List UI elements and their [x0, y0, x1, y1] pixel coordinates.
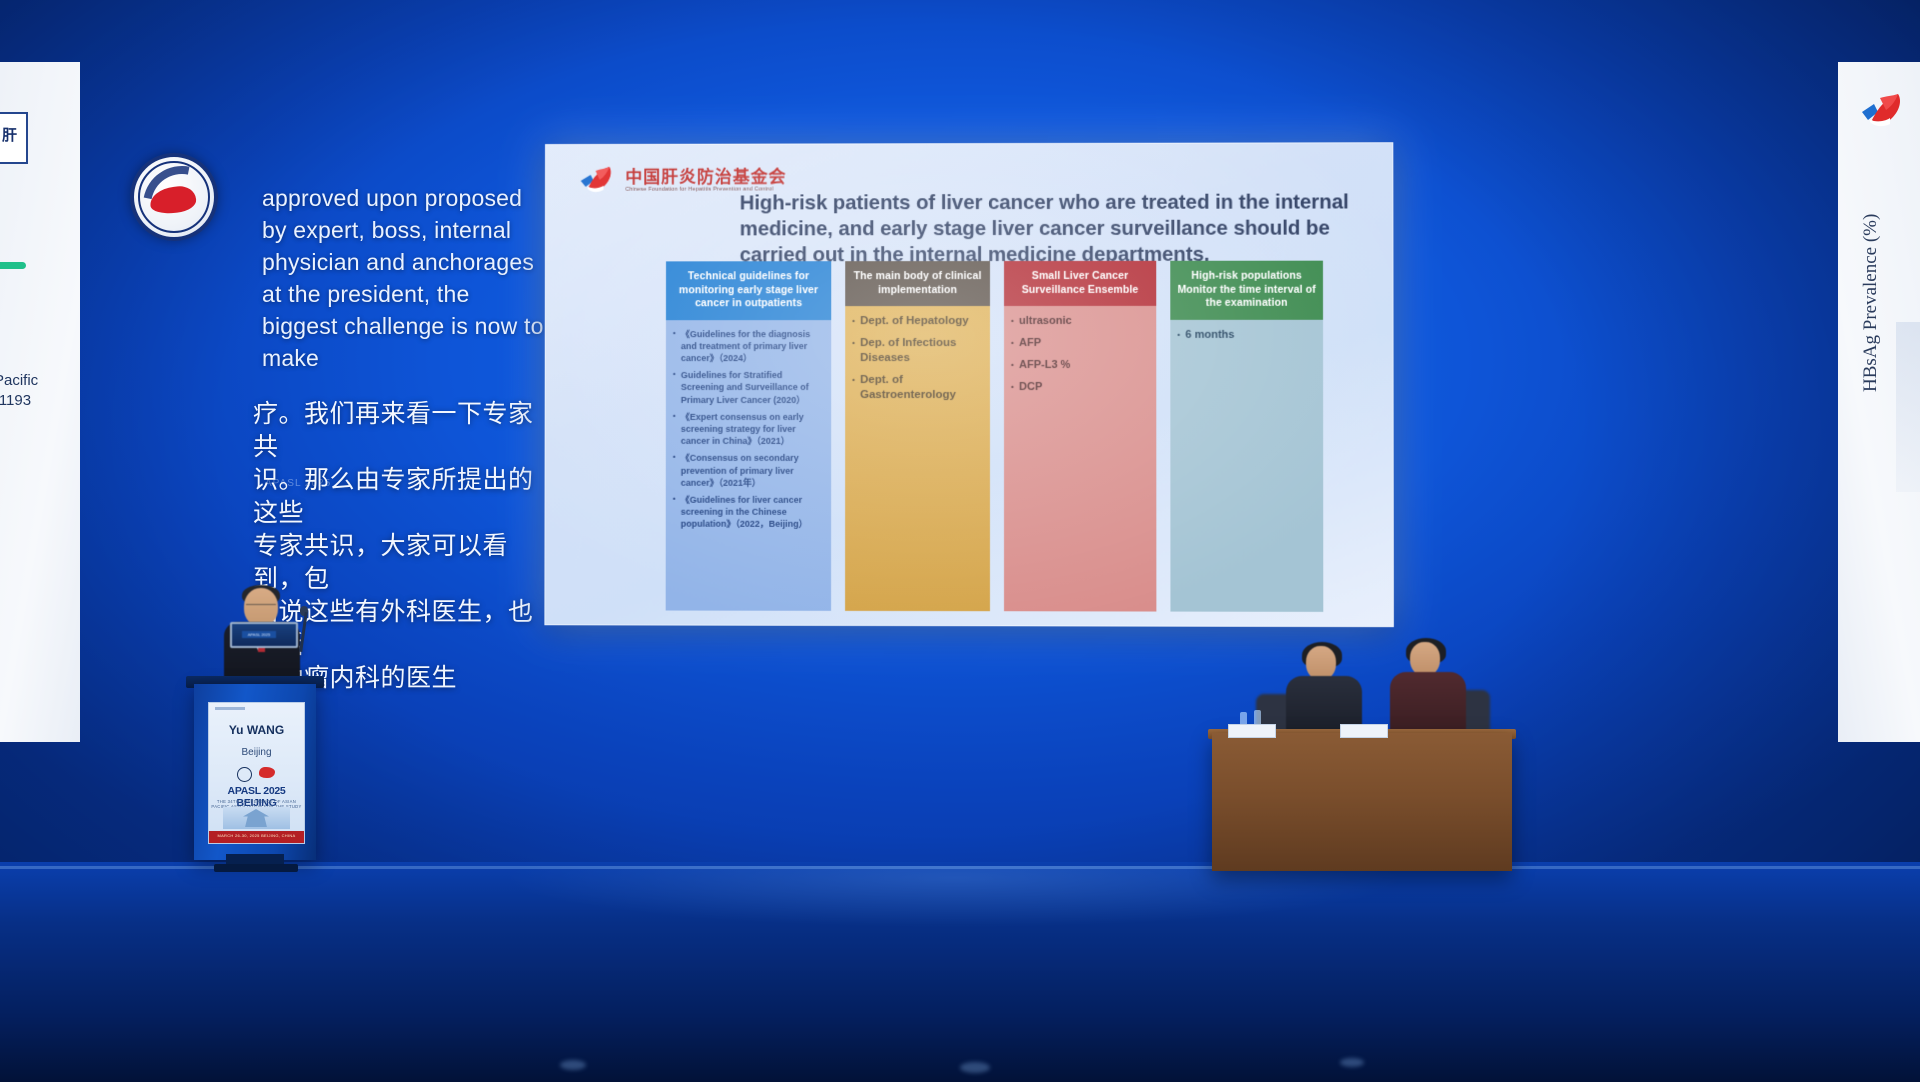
conference-stage-photo: 肝 Pacific D1193 HBsAg Prevalence (%) app… [0, 0, 1920, 1082]
stage-floor-sheen [330, 866, 1580, 986]
cfhpc-hand-logo-icon [578, 165, 622, 197]
floor-light-dot [560, 1060, 586, 1070]
right-side-screen: HBsAg Prevalence (%) [1838, 62, 1920, 742]
emblem-arc [130, 153, 218, 241]
panel-table [1212, 733, 1512, 871]
apasl-liver-emblem-icon [130, 153, 218, 241]
nameplate-rule [215, 707, 245, 710]
panel-nameplate [1228, 724, 1276, 738]
podium-laptop: APASL 2025 [222, 622, 294, 648]
podium-nameplate: Yu WANG Beijing APASL 2025 BEIJING THE 3… [208, 702, 305, 844]
column-header: Technical guidelines for monitoring earl… [666, 261, 831, 319]
right-screen-axis-label: HBsAg Prevalence (%) [1860, 92, 1882, 392]
column-surveillance-ensemble: Small Liver Cancer Surveillance Ensemble… [1004, 261, 1156, 612]
list-item: 《Guidelines for the diagnosis and treatm… [673, 328, 824, 365]
speaker-city: Beijing [209, 747, 304, 758]
list-item: AFP [1011, 336, 1149, 351]
english-live-caption: approved upon proposed by expert, boss, … [262, 182, 544, 374]
panelist-body [1390, 672, 1466, 734]
list-item: Dept. of Hepatology [852, 314, 983, 329]
list-item: Guidelines for Stratified Screening and … [673, 369, 824, 406]
floor-light-dot [960, 1062, 990, 1073]
list-item: AFP-L3 % [1011, 358, 1149, 373]
column-body: 《Guidelines for the diagnosis and treatm… [666, 320, 832, 611]
list-item: 《Guidelines for liver cancer screening i… [673, 494, 824, 531]
left-screen-text-line2: D1193 [0, 392, 31, 409]
laptop-badge-label: APASL 2025 [242, 631, 276, 638]
column-header: The main body of clinical implementation [845, 261, 990, 306]
speaker-glasses-icon [246, 604, 276, 612]
column-monitor-interval: High-risk populations Monitor the time i… [1170, 261, 1323, 612]
panel-nameplate [1340, 724, 1388, 738]
list-item: DCP [1011, 380, 1149, 395]
apasl-seal-icon [237, 767, 252, 782]
main-projection-screen: 中国肝炎防治基金会 Chinese Foundation for Hepatit… [544, 142, 1393, 627]
speaker-name: Yu WANG [209, 723, 304, 737]
list-item: Dept. of Gastroenterology [852, 373, 983, 403]
column-technical-guidelines: Technical guidelines for monitoring earl… [666, 261, 832, 611]
chinese-caption-line: 识。那么由专家所提出的这些 [253, 464, 543, 530]
chinese-caption-line: 专家共识，大家可以看到，包 [253, 530, 543, 596]
column-body: 6 months [1170, 319, 1323, 612]
panelist-figure [1382, 642, 1478, 734]
right-screen-faint-chart [1896, 322, 1920, 492]
column-header: Small Liver Cancer Surveillance Ensemble [1004, 261, 1156, 306]
floor-light-dot [1340, 1058, 1364, 1067]
list-item: 《Expert consensus on early screening str… [673, 411, 824, 448]
nameplate-banner-text: MARCH 26-30, 2025 BEIJING, CHINA [209, 833, 304, 838]
list-item: Dep. of Infectious Diseases [852, 336, 983, 366]
left-screen-green-bar [0, 262, 26, 269]
column-body: ultrasonic AFP AFP-L3 % DCP [1004, 306, 1156, 612]
column-main-body-clinical: The main body of clinical implementation… [845, 261, 990, 611]
left-screen-cjk-glyph: 肝 [2, 124, 16, 145]
speaker-podium: Yu WANG Beijing APASL 2025 BEIJING THE 3… [186, 648, 324, 870]
list-item: 6 months [1177, 327, 1316, 342]
column-header: High-risk populations Monitor the time i… [1170, 261, 1323, 320]
cfhpc-hand-logo-icon [259, 767, 275, 778]
podium-base [214, 864, 298, 872]
foundation-name-chinese: 中国肝炎防治基金会 [625, 163, 786, 188]
slide-title: High-risk patients of liver cancer who a… [740, 189, 1359, 268]
list-item: 《Consensus on secondary prevention of pr… [673, 452, 824, 489]
chinese-caption-line: 疗。我们再来看一下专家共 [253, 398, 543, 464]
list-item: ultrasonic [1011, 314, 1149, 329]
panelist-head [1306, 646, 1336, 680]
panelist-head [1410, 642, 1440, 676]
left-side-screen: 肝 Pacific D1193 [0, 62, 80, 742]
column-body: Dept. of Hepatology Dep. of Infectious D… [845, 306, 990, 611]
slide-foundation-logo: 中国肝炎防治基金会 Chinese Foundation for Hepatit… [578, 163, 755, 203]
slide-column-grid: Technical guidelines for monitoring earl… [666, 261, 1372, 612]
left-screen-text-line1: Pacific [0, 372, 38, 389]
